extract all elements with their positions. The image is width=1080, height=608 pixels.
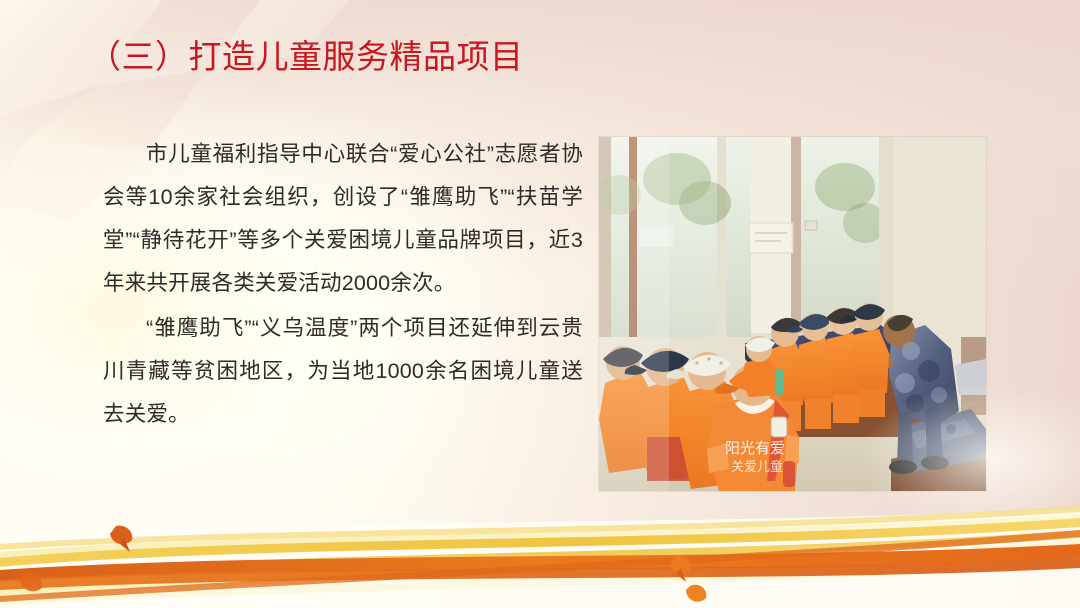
slide-canvas: （三）打造儿童服务精品项目 市儿童福利指导中心联合“爱心公社”志愿者协会等10余…: [0, 0, 1080, 608]
body-paragraph-1: 市儿童福利指导中心联合“爱心公社”志愿者协会等10余家社会组织，创设了“雏鹰助飞…: [103, 133, 583, 305]
slide-heading: （三）打造儿童服务精品项目: [88, 36, 524, 77]
photo-children-visiting-dormitory: 阳光有爱 关爱儿童: [599, 137, 986, 491]
body-text-column: 市儿童福利指导中心联合“爱心公社”志愿者协会等10余家社会组织，创设了“雏鹰助飞…: [103, 133, 583, 438]
body-paragraph-2: “雏鹰助飞”“义乌温度”两个项目还延伸到云贵川青藏等贫困地区，为当地1000余名…: [103, 307, 583, 436]
photo-illustration: 阳光有爱 关爱儿童: [599, 137, 986, 491]
decorative-bottom-ribbons: [0, 500, 1080, 608]
